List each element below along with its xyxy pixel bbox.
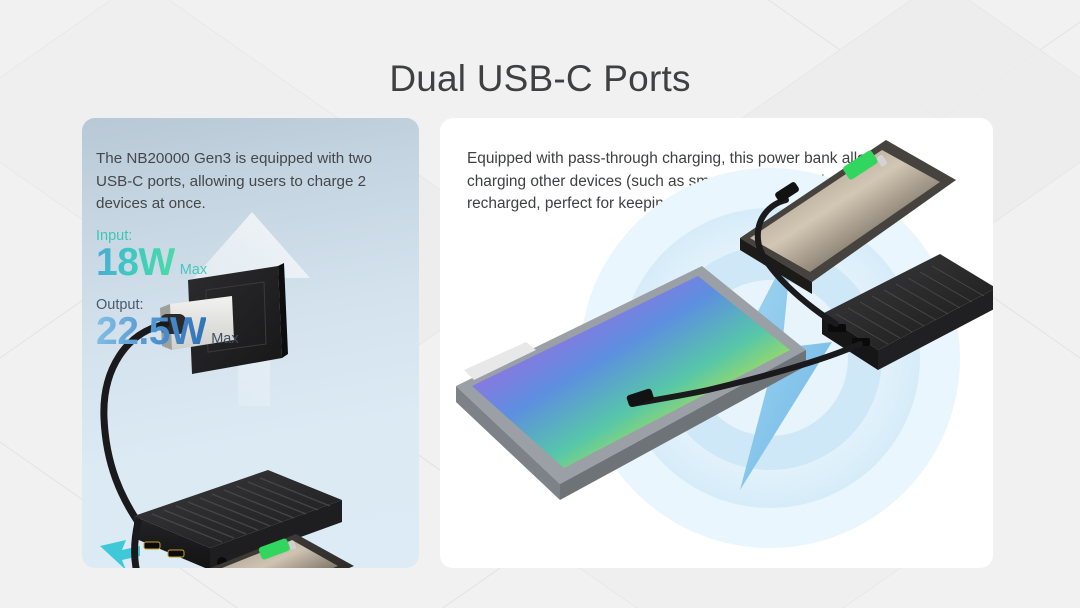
spec-output: Output: 22.5W Max	[96, 297, 239, 352]
phone-cable	[135, 522, 232, 568]
spec-input-value: 18W	[96, 243, 175, 283]
spec-output-value: 22.5W	[96, 312, 206, 352]
spec-input: Input: 18W Max	[96, 228, 239, 283]
spec-input-suffix: Max	[175, 262, 207, 283]
tablet-graphic	[456, 266, 806, 500]
stylus-graphic	[464, 342, 536, 380]
power-bank-graphic	[822, 254, 993, 370]
card-dual-ports: The NB20000 Gen3 is equipped with two US…	[82, 118, 419, 568]
port-indicator-arrows	[100, 540, 146, 568]
spec-output-suffix: Max	[206, 331, 238, 352]
charging-rings	[580, 168, 960, 548]
lightning-bolt-icon	[722, 246, 832, 490]
page-title: Dual USB-C Ports	[0, 58, 1080, 100]
cards-row: The NB20000 Gen3 is equipped with two US…	[0, 118, 1080, 568]
smartphone-graphic	[170, 534, 354, 568]
cable-to-tablet	[632, 344, 860, 404]
power-bank-graphic	[134, 470, 342, 568]
spec-list: Input: 18W Max Output: 22.5W Max	[96, 228, 239, 366]
cable-to-phone	[758, 200, 836, 324]
card-passthrough-charging: Equipped with pass-through charging, thi…	[440, 118, 993, 568]
right-card-description: Equipped with pass-through charging, thi…	[467, 148, 965, 216]
